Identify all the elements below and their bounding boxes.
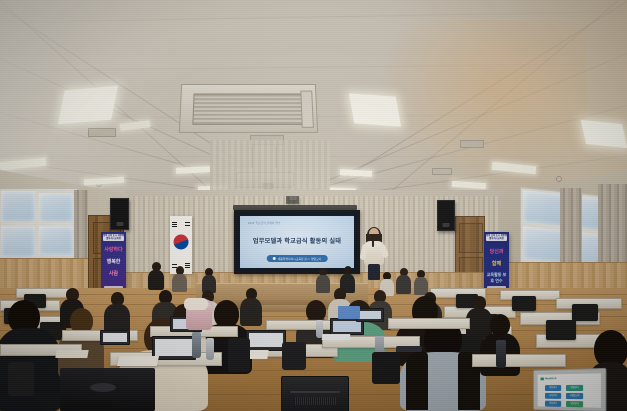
wall-speaker-right: [437, 200, 455, 231]
audience-person: [172, 266, 187, 292]
tumbler: [496, 340, 506, 368]
foreground-laptop-right: Health-S 영양관리 위생관리 급식운영 식생활교육 안전관리 업무일지: [531, 369, 603, 411]
trigram-bar: [172, 224, 177, 225]
tumbler: [192, 332, 201, 358]
banner-header-text: 행복 교육 도시 세종특별자치시교육청: [103, 234, 124, 241]
chair: [572, 304, 598, 321]
ceiling-vent: [460, 140, 484, 148]
air-conditioner-cassette: [179, 84, 318, 133]
tote-bag: [228, 338, 250, 372]
ceiling-light-panel: [349, 93, 401, 126]
banner-line-1: 당신과: [486, 248, 507, 255]
ac-side-vent: [300, 91, 314, 128]
tote-bag: [8, 362, 34, 396]
ceiling-speaker: [286, 196, 299, 204]
foreground-laptop-center: [281, 376, 349, 411]
audience-person: [148, 262, 164, 290]
wall-speaker-left: [110, 198, 129, 230]
banner-line-3: 사람: [103, 270, 124, 277]
sprinkler-head: [556, 176, 562, 182]
door-panel: [459, 223, 483, 253]
paper: [322, 334, 351, 340]
app-tile[interactable]: 업무일지: [566, 401, 583, 407]
slide-presenter-badge: 세종특별자치시교육청 장○○ 영양교사: [267, 255, 328, 262]
trigram-bar: [185, 263, 190, 264]
app-tile[interactable]: 영양관리: [545, 385, 561, 391]
tumbler: [206, 338, 214, 360]
window-pane: [39, 193, 73, 222]
smartphone: [396, 346, 422, 352]
app-tile[interactable]: 식생활교육: [566, 393, 583, 399]
folder: [338, 306, 360, 319]
rollup-banner-left: 행복 교육 도시 세종특별자치시교육청 사랑하다 행복한 사람: [101, 232, 126, 294]
scarf: [184, 298, 208, 310]
ac-grille: [192, 93, 305, 124]
laptop-lid: Health-S 영양관리 위생관리 급식운영 식생활교육 안전관리 업무일지: [533, 368, 606, 411]
app-tile[interactable]: 급식운영: [545, 393, 561, 399]
trigram-bar: [172, 222, 177, 223]
notebook: [117, 356, 159, 366]
app-tile[interactable]: 위생관리: [566, 385, 583, 391]
trigram-bar: [172, 264, 177, 265]
left-window-frame: [0, 188, 78, 262]
laptop-hinge: [290, 391, 340, 393]
taeguk-circle: [174, 234, 189, 249]
laptop-screen: [155, 339, 193, 356]
app-logo-icon: [540, 377, 543, 380]
audience-person: [396, 268, 411, 294]
laptop-trackpad: [90, 383, 116, 392]
slide-kicker: 2024 학교급식 관계자 연수: [248, 221, 281, 225]
rollup-banner-right: 행복 교육 도시 세종특별자치시교육청 당신과 함께 교육활동 보호 연수: [484, 232, 509, 294]
app-brand-text: Health-S: [545, 376, 556, 380]
ceiling-light-panel: [581, 120, 627, 148]
trigram-bar: [185, 225, 190, 226]
microphone: [372, 239, 374, 247]
slide-title: 업무모델과 학교급식 활동의 실태: [240, 236, 354, 245]
laptop-screen: [333, 321, 361, 332]
lecture-hall-photo: 2024 학교급식 관계자 연수 업무모델과 학교급식 활동의 실태 세종특별자…: [0, 0, 627, 411]
badge-dot-icon: [273, 257, 276, 260]
desk: [388, 318, 470, 329]
presenter-legs: [368, 264, 380, 280]
laptop-vent: [294, 397, 336, 405]
laptop: [246, 330, 286, 351]
foreground-laptop-left: [60, 368, 155, 411]
window-pane: [39, 226, 73, 255]
laptop: [100, 330, 130, 345]
banner-line-3: 교육활동 보호 연수: [486, 272, 507, 284]
chair: [546, 320, 576, 340]
badge-text: 세종특별자치시교육청 장○○ 영양교사: [278, 257, 322, 261]
app-tile[interactable]: 안전관리: [545, 401, 561, 407]
window-pane: [1, 191, 35, 222]
trigram-bar: [172, 226, 177, 227]
ceiling-warm-glow: [377, 20, 587, 190]
ceiling-soffit: [210, 140, 330, 192]
laptop-screen: [359, 311, 381, 319]
laptop: [356, 308, 384, 322]
banner-header-left: 행복 교육 도시 세종특별자치시교육청: [103, 234, 124, 241]
trigram-bar: [185, 222, 190, 223]
desk: [472, 354, 566, 367]
banner-line-2: 행복한: [103, 258, 124, 265]
tote-bag: [282, 342, 306, 370]
ceiling-light-panel: [58, 86, 118, 124]
ceiling-vent: [432, 168, 452, 175]
laptop-display: Health-S 영양관리 위생관리 급식운영 식생활교육 안전관리 업무일지: [538, 373, 601, 407]
chair: [512, 296, 536, 311]
ceiling-vent: [88, 128, 116, 137]
window-pane: [1, 226, 35, 257]
projection-screen: 2024 학교급식 관계자 연수 업무모델과 학교급식 활동의 실태 세종특별자…: [234, 210, 360, 274]
laptop-screen: [103, 333, 127, 342]
window-mullion: [1, 222, 73, 226]
laptop-screen: [249, 333, 283, 347]
banner-header-right: 행복 교육 도시 세종특별자치시교육청: [486, 234, 507, 241]
banner-line-2: 함께: [486, 260, 507, 267]
tote-bag: [372, 352, 400, 384]
banner-header-text: 행복 교육 도시 세종특별자치시교육청: [486, 234, 507, 241]
slide-content: 2024 학교급식 관계자 연수 업무모델과 학교급식 활동의 실태 세종특별자…: [240, 216, 354, 268]
banner-line-1: 사랑하다: [103, 246, 124, 253]
notebook: [55, 350, 88, 358]
